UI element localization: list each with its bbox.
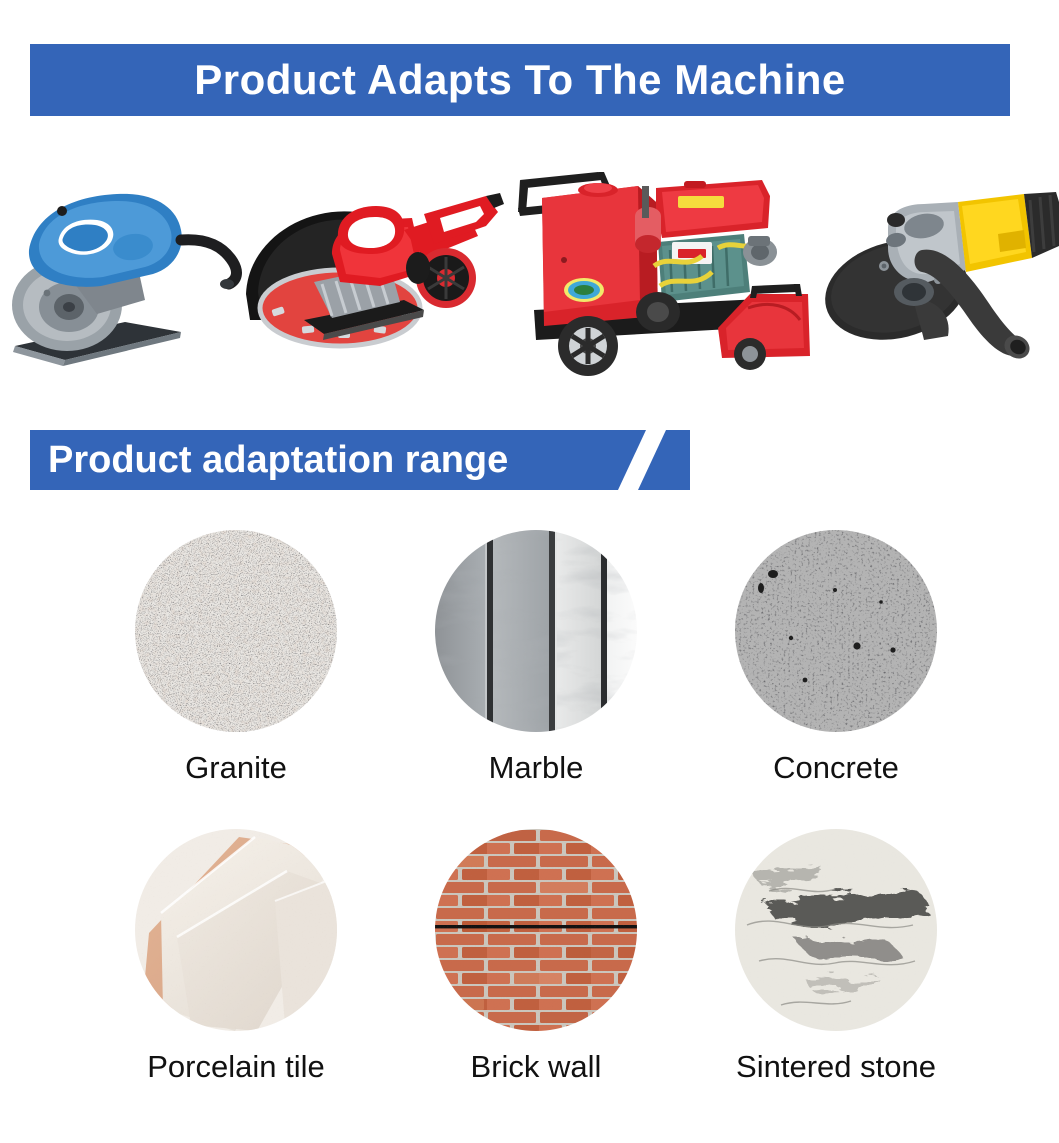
- material-grid: Granite: [86, 530, 986, 1082]
- porcelain-tile-texture: [135, 829, 337, 1031]
- material-label-sintered-stone: Sintered stone: [736, 1051, 936, 1082]
- title-banner: Product Adapts To The Machine: [30, 44, 1010, 116]
- brick-wall-texture: [435, 829, 637, 1031]
- concrete-texture: [735, 530, 937, 732]
- material-item-granite[interactable]: Granite: [86, 530, 386, 783]
- machine-image-walk-behind-floor-saw: [512, 150, 812, 395]
- material-row-1: Granite: [86, 530, 986, 783]
- material-item-marble[interactable]: Marble: [386, 530, 686, 783]
- material-label-porcelain-tile: Porcelain tile: [147, 1051, 324, 1082]
- material-item-brick-wall[interactable]: Brick wall: [386, 829, 686, 1082]
- material-label-concrete: Concrete: [773, 752, 899, 783]
- machine-image-angle-grinder: [818, 150, 1059, 395]
- page-title: Product Adapts To The Machine: [194, 59, 846, 101]
- granite-texture: [135, 530, 337, 732]
- section-banner: Product adaptation range: [30, 430, 690, 490]
- material-item-sintered-stone[interactable]: Sintered stone: [686, 829, 986, 1082]
- material-label-granite: Granite: [185, 752, 287, 783]
- section-title: Product adaptation range: [48, 430, 508, 490]
- material-item-concrete[interactable]: Concrete: [686, 530, 986, 783]
- material-row-2: Porcelain tile: [86, 829, 986, 1082]
- material-label-brick-wall: Brick wall: [471, 1051, 602, 1082]
- machine-image-marble-cutter: [5, 150, 255, 395]
- material-item-porcelain-tile[interactable]: Porcelain tile: [86, 829, 386, 1082]
- row-spacer: [86, 783, 986, 829]
- machine-image-row: [0, 150, 1059, 395]
- marble-texture: [435, 530, 637, 732]
- machine-image-concrete-cut-off-saw: [228, 150, 508, 395]
- material-label-marble: Marble: [489, 752, 584, 783]
- sintered-stone-texture: [735, 829, 937, 1031]
